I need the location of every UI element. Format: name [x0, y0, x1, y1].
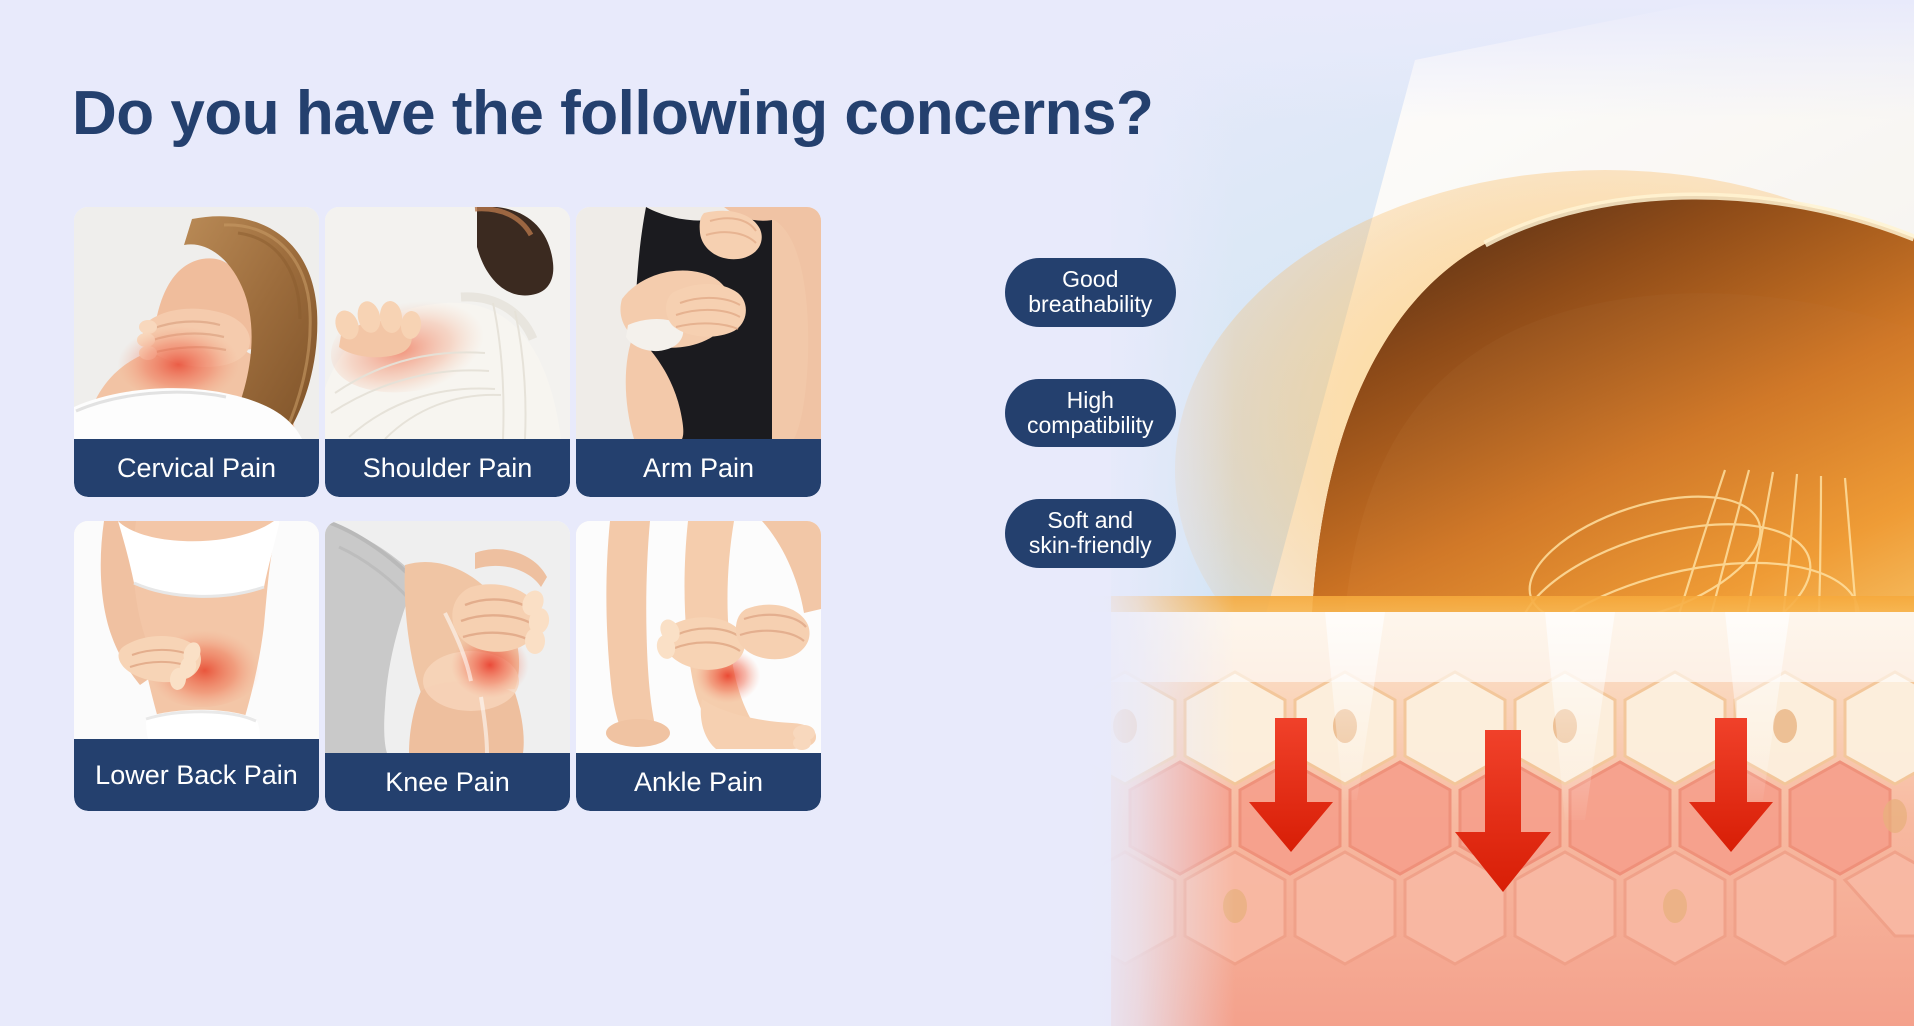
feature-badge-line2: compatibility: [1027, 413, 1154, 438]
knee-pain-photo: [325, 521, 570, 753]
page-title: Do you have the following concerns?: [72, 78, 1153, 149]
lower-back-pain-photo: [74, 521, 319, 739]
pain-card-knee[interactable]: Knee Pain: [325, 521, 570, 811]
pain-card-label: Knee Pain: [325, 753, 570, 811]
pain-card-label: Ankle Pain: [576, 753, 821, 811]
pain-card-label-line1: Lower Back: [95, 761, 236, 789]
pain-card-label: Arm Pain: [576, 439, 821, 497]
pain-card-shoulder[interactable]: Shoulder Pain: [325, 207, 570, 497]
feature-badge-compatibility[interactable]: High compatibility: [1005, 379, 1176, 448]
feature-badge-breathability[interactable]: Good breathability: [1005, 258, 1176, 327]
illustration-artwork: [1085, 0, 1914, 1026]
pain-card-row-1: Cervical Pain: [74, 207, 822, 497]
feature-badge-line1: Soft and: [1029, 508, 1152, 533]
poster-root: Do you have the following concerns?: [0, 0, 1914, 1026]
feature-badge-line1: Good: [1028, 267, 1152, 292]
feature-badge-line1: High: [1027, 388, 1154, 413]
pain-card-label: Shoulder Pain: [325, 439, 570, 497]
pain-card-grid: Cervical Pain: [74, 207, 822, 811]
pain-card-label: Cervical Pain: [74, 439, 319, 497]
pain-card-label-line2: Pain: [244, 761, 298, 789]
feature-badge-line2: skin-friendly: [1029, 533, 1152, 558]
ankle-pain-photo: [576, 521, 821, 753]
pain-card-cervical[interactable]: Cervical Pain: [74, 207, 319, 497]
shoulder-pain-photo: [325, 207, 570, 439]
feature-badge-list: Good breathability High compatibility So…: [1005, 258, 1176, 568]
pain-card-row-2: Lower Back Pain: [74, 521, 822, 811]
pain-card-arm[interactable]: Arm Pain: [576, 207, 821, 497]
heat-patch-penetration-illustration: [1085, 0, 1914, 1026]
pain-card-ankle[interactable]: Ankle Pain: [576, 521, 821, 811]
pain-card-lower-back[interactable]: Lower Back Pain: [74, 521, 319, 811]
arm-pain-photo: [576, 207, 821, 439]
feature-badge-skin-friendly[interactable]: Soft and skin-friendly: [1005, 499, 1176, 568]
feature-badge-line2: breathability: [1028, 292, 1152, 317]
pain-card-label: Lower Back Pain: [74, 739, 319, 811]
neck-pain-photo: [74, 207, 319, 439]
